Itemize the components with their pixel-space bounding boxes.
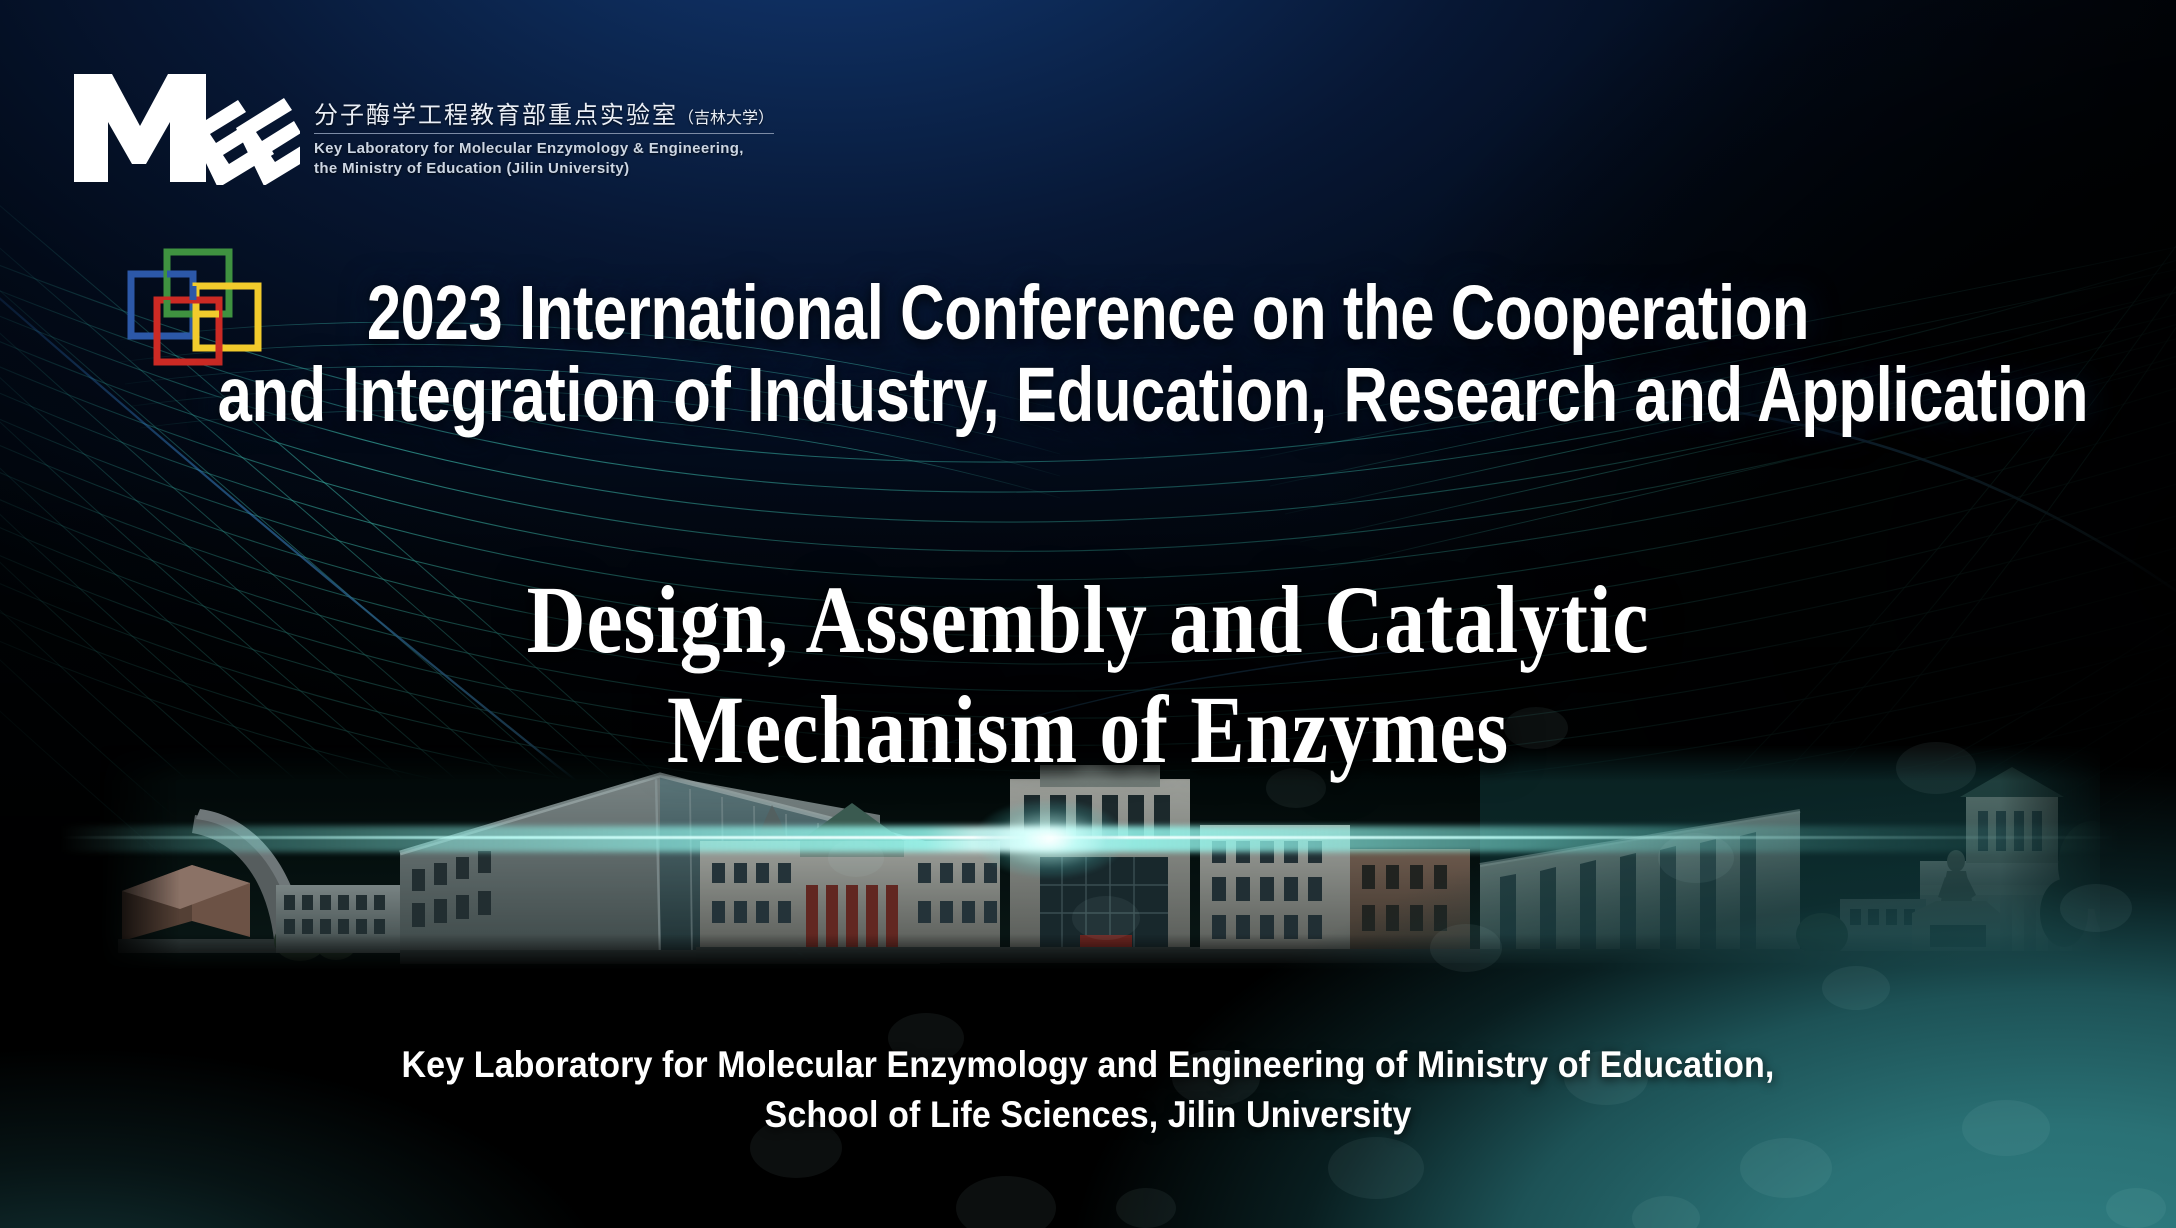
- conference-title-line1: 2023 International Conference on the Coo…: [218, 272, 1959, 354]
- conference-theme-line2: Mechanism of Enzymes: [163, 675, 2013, 785]
- logo-english-line1: Key Laboratory for Molecular Enzymology …: [314, 139, 774, 159]
- conference-title: 2023 International Conference on the Coo…: [0, 272, 2176, 437]
- logo-english-name: Key Laboratory for Molecular Enzymology …: [314, 139, 774, 180]
- logo-chinese-name: 分子酶学工程教育部重点实验室（吉林大学）: [314, 102, 774, 134]
- organizer-footer: Key Laboratory for Molecular Enzymology …: [0, 1040, 2176, 1139]
- lab-logo: 分子酶学工程教育部重点实验室（吉林大学） Key Laboratory for …: [70, 70, 774, 185]
- mee-monogram-icon: [70, 70, 300, 185]
- organizer-line1: Key Laboratory for Molecular Enzymology …: [87, 1040, 2089, 1090]
- conference-title-line2: and Integration of Industry, Education, …: [218, 354, 1959, 436]
- organizer-line2: School of Life Sciences, Jilin Universit…: [87, 1090, 2089, 1140]
- conference-theme-line1: Design, Assembly and Catalytic: [163, 565, 2013, 675]
- conference-theme: Design, Assembly and Catalytic Mechanism…: [0, 565, 2176, 786]
- conference-title-slide: 分子酶学工程教育部重点实验室（吉林大学） Key Laboratory for …: [0, 0, 2176, 1228]
- logo-english-line2: the Ministry of Education (Jilin Univers…: [314, 159, 774, 179]
- logo-chinese-paren: （吉林大学）: [678, 108, 774, 127]
